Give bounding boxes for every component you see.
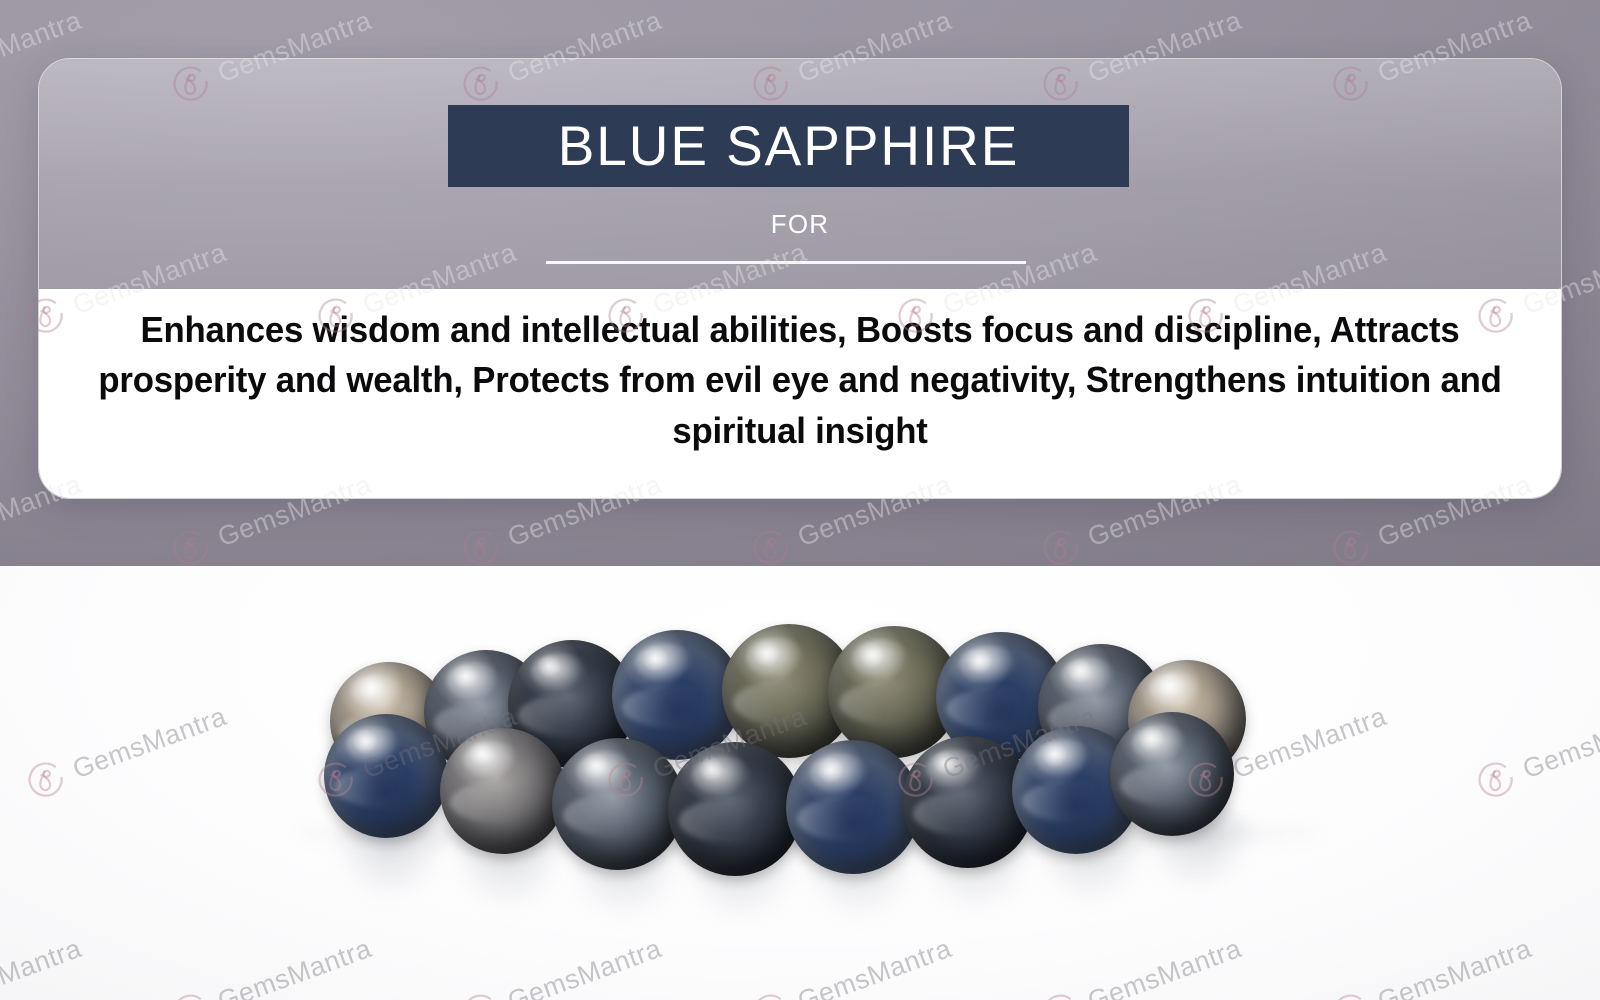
poster-canvas: BLUE SAPPHIRE FOR Enhances wisdom and in… <box>0 0 1600 1000</box>
bead <box>552 738 684 870</box>
bead <box>1110 712 1234 836</box>
bead <box>440 728 566 854</box>
subtitle-for: FOR <box>39 209 1561 240</box>
title-banner: BLUE SAPPHIRE <box>448 105 1129 187</box>
gemstone-info-card: BLUE SAPPHIRE FOR Enhances wisdom and in… <box>38 58 1562 499</box>
product-image-bracelet <box>0 566 1600 1000</box>
benefits-text: Enhances wisdom and intellectual abiliti… <box>89 305 1511 456</box>
divider-rule <box>546 261 1026 264</box>
bead <box>786 740 920 874</box>
bead <box>668 742 802 876</box>
bead <box>324 714 448 838</box>
page-title: BLUE SAPPHIRE <box>558 118 1020 174</box>
